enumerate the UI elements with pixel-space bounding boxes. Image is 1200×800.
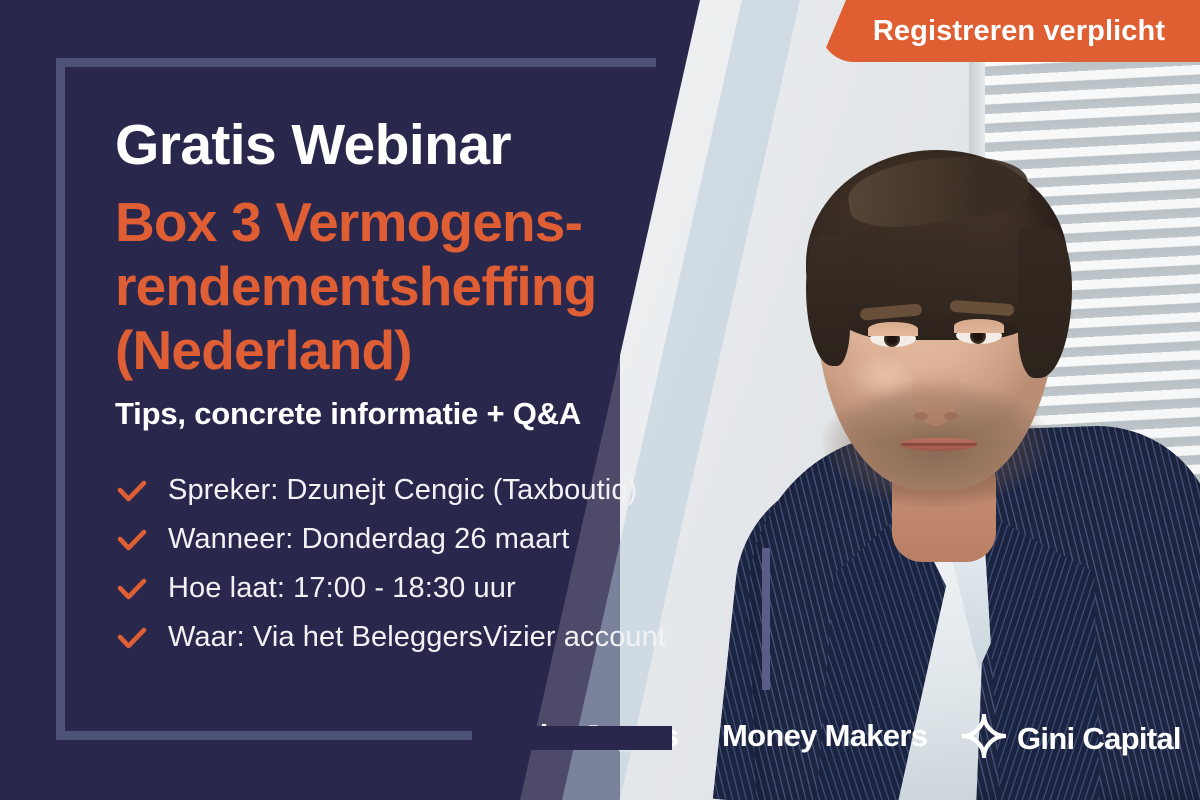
list-item: Spreker: Dzunejt Cengic (Taxboutiq) [115, 466, 735, 515]
eyelid-right [954, 319, 1004, 333]
headline-line-3: (Nederland) [115, 318, 700, 382]
frame-bottom-mask [472, 726, 672, 750]
registration-badge-label: Registreren verplicht [873, 15, 1165, 48]
detail-list: Spreker: Dzunejt Cengic (Taxboutiq) Wann… [115, 466, 735, 662]
logo-gini-capital: Gini Capital [962, 714, 1181, 763]
list-item-label: Wanneer: Donderdag 26 maart [168, 523, 569, 556]
list-item: Waar: Via het BeleggersVizier account [115, 613, 735, 662]
webinar-promo-banner: Registreren verplicht Gratis Webinar Box… [0, 0, 1200, 800]
check-icon [115, 621, 149, 655]
hero-headline: Box 3 Vermogens- rendementsheffing (Nede… [115, 190, 700, 382]
logo-money-makers: Money Makers [722, 718, 927, 754]
list-item: Hoe laat: 17:00 - 18:30 uur [115, 564, 735, 613]
hero-subtitle: Tips, concrete informatie + Q&A [115, 396, 581, 432]
registration-badge-inner: Registreren verplicht [820, 0, 1200, 62]
eyelid-left [868, 322, 918, 336]
nostril-left [914, 412, 928, 420]
nostril-right [944, 412, 958, 420]
mouth-line [901, 443, 977, 446]
logo-gini-capital-label: Gini Capital [1017, 721, 1181, 757]
check-icon [115, 474, 149, 508]
check-icon [115, 572, 149, 606]
headline-line-1: Box 3 Vermogens- [115, 190, 700, 254]
list-item-label: Hoe laat: 17:00 - 18:30 uur [168, 572, 516, 605]
hero-kicker: Gratis Webinar [115, 117, 511, 174]
check-icon [115, 523, 149, 557]
list-item: Wanneer: Donderdag 26 maart [115, 515, 735, 564]
hair-side-right [1018, 228, 1072, 378]
vertical-divider [762, 548, 770, 690]
hair-side-left [806, 236, 850, 366]
list-item-label: Waar: Via het BeleggersVizier account [168, 621, 666, 654]
cheek-highlight [848, 352, 918, 400]
headline-line-2: rendementsheffing [115, 254, 700, 318]
four-point-star-icon [962, 714, 1006, 763]
list-item-label: Spreker: Dzunejt Cengic (Taxboutiq) [168, 474, 637, 507]
